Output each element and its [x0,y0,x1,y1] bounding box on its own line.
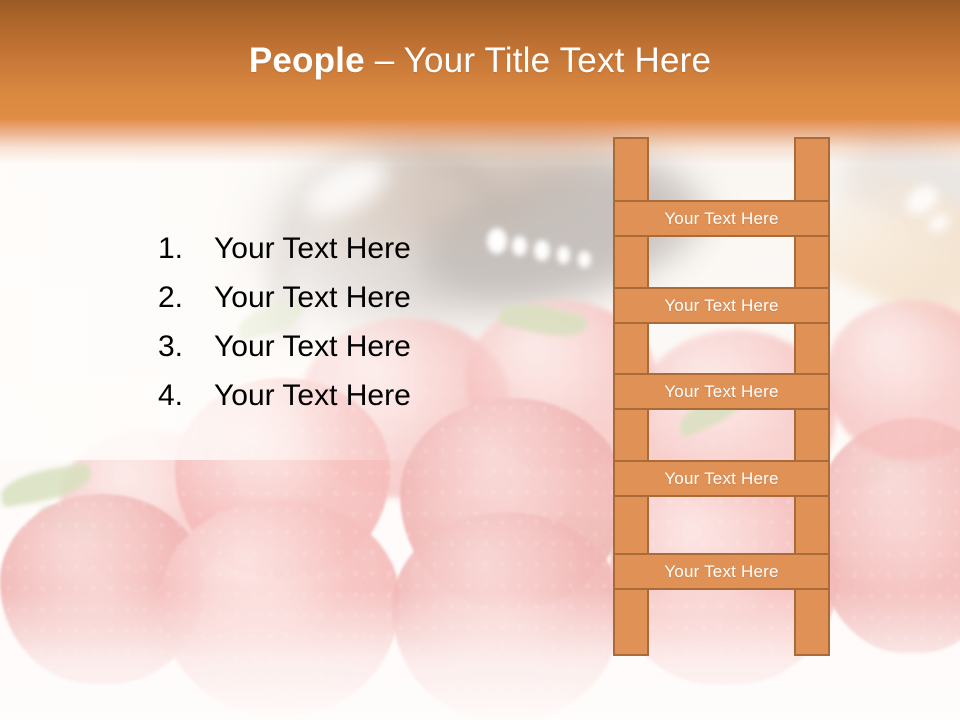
page-title-strong: People [249,41,365,80]
list-item-label: Your Text Here [214,281,411,315]
list-item[interactable]: 2. Your Text Here [158,281,538,330]
list-item-label: Your Text Here [214,330,411,364]
ladder-rung[interactable]: Your Text Here [613,553,830,590]
ladder-rung-label: Your Text Here [664,382,778,402]
list-item-label: Your Text Here [214,232,411,266]
list-item-number: 3. [158,330,214,364]
ladder-diagram: Your Text Here Your Text Here Your Text … [613,137,830,656]
ladder-rung-label: Your Text Here [664,296,778,316]
list-item-number: 4. [158,379,214,413]
ladder-rung[interactable]: Your Text Here [613,287,830,324]
slide-canvas: People – Your Title Text Here 1. Your Te… [0,0,960,720]
ladder-rung[interactable]: Your Text Here [613,200,830,237]
numbered-list: 1. Your Text Here 2. Your Text Here 3. Y… [158,232,538,428]
list-item-label: Your Text Here [214,379,411,413]
list-item[interactable]: 1. Your Text Here [158,232,538,281]
list-item-number: 2. [158,281,214,315]
list-item[interactable]: 3. Your Text Here [158,330,538,379]
page-title-separator: – [365,41,404,80]
ladder-rung-label: Your Text Here [664,209,778,229]
ladder-rung-label: Your Text Here [664,562,778,582]
ladder-rung[interactable]: Your Text Here [613,460,830,497]
title-bar: People – Your Title Text Here [0,0,960,120]
page-title-rest: Your Title Text Here [404,41,712,80]
page-title: People – Your Title Text Here [249,43,711,78]
ladder-rung-label: Your Text Here [664,469,778,489]
list-item-number: 1. [158,232,214,266]
ladder-rung[interactable]: Your Text Here [613,373,830,410]
list-item[interactable]: 4. Your Text Here [158,379,538,428]
